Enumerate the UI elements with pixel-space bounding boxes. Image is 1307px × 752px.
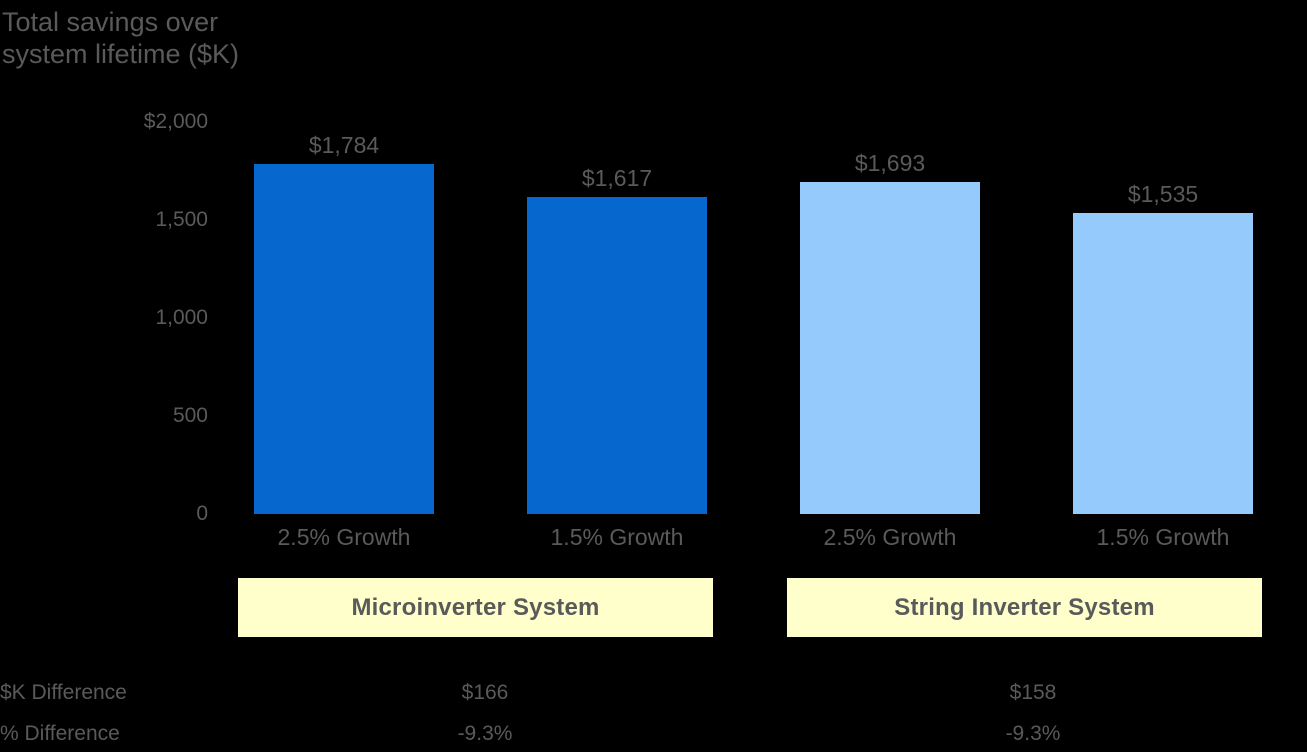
diff-value-percent-string-inverter: -9.3%: [923, 723, 1143, 744]
category-label-3: 2.5% Growth: [780, 526, 1000, 549]
bar-microinverter-2-5-growth[interactable]: [254, 164, 434, 514]
y-axis-tick-2000: $2,000: [8, 111, 208, 132]
diff-value-dollar-string-inverter: $158: [923, 682, 1143, 703]
bar-value-label-4: $1,535: [1053, 183, 1273, 206]
bar-microinverter-1-5-growth[interactable]: [527, 197, 707, 514]
category-label-2: 1.5% Growth: [507, 526, 727, 549]
y-axis-tick-500: 500: [8, 405, 208, 426]
bar-string-inverter-1-5-growth[interactable]: [1073, 213, 1253, 514]
group-box-string-inverter-system: String Inverter System: [787, 578, 1262, 637]
bar-value-label-1: $1,784: [234, 134, 454, 157]
y-axis-tick-0: 0: [8, 503, 208, 524]
diff-value-dollar-microinverter: $166: [375, 682, 595, 703]
y-axis-tick-1000: 1,000: [8, 307, 208, 328]
group-label-microinverter-system: Microinverter System: [351, 594, 599, 622]
bar-value-label-3: $1,693: [780, 152, 1000, 175]
diff-row-label-dollar: $K Difference: [0, 682, 230, 703]
plot-area: $2,000 1,500 1,000 500 0 $1,784 $1,617 $…: [0, 0, 1307, 752]
category-label-4: 1.5% Growth: [1053, 526, 1273, 549]
bar-string-inverter-2-5-growth[interactable]: [800, 182, 980, 514]
y-axis-tick-1500: 1,500: [8, 209, 208, 230]
category-label-1: 2.5% Growth: [234, 526, 454, 549]
group-label-string-inverter-system: String Inverter System: [894, 594, 1155, 622]
bar-value-label-2: $1,617: [507, 167, 727, 190]
chart-canvas: Total savings over system lifetime ($K) …: [0, 0, 1307, 752]
diff-value-percent-microinverter: -9.3%: [375, 723, 595, 744]
diff-row-label-percent: % Difference: [0, 723, 230, 744]
group-box-microinverter-system: Microinverter System: [238, 578, 713, 637]
